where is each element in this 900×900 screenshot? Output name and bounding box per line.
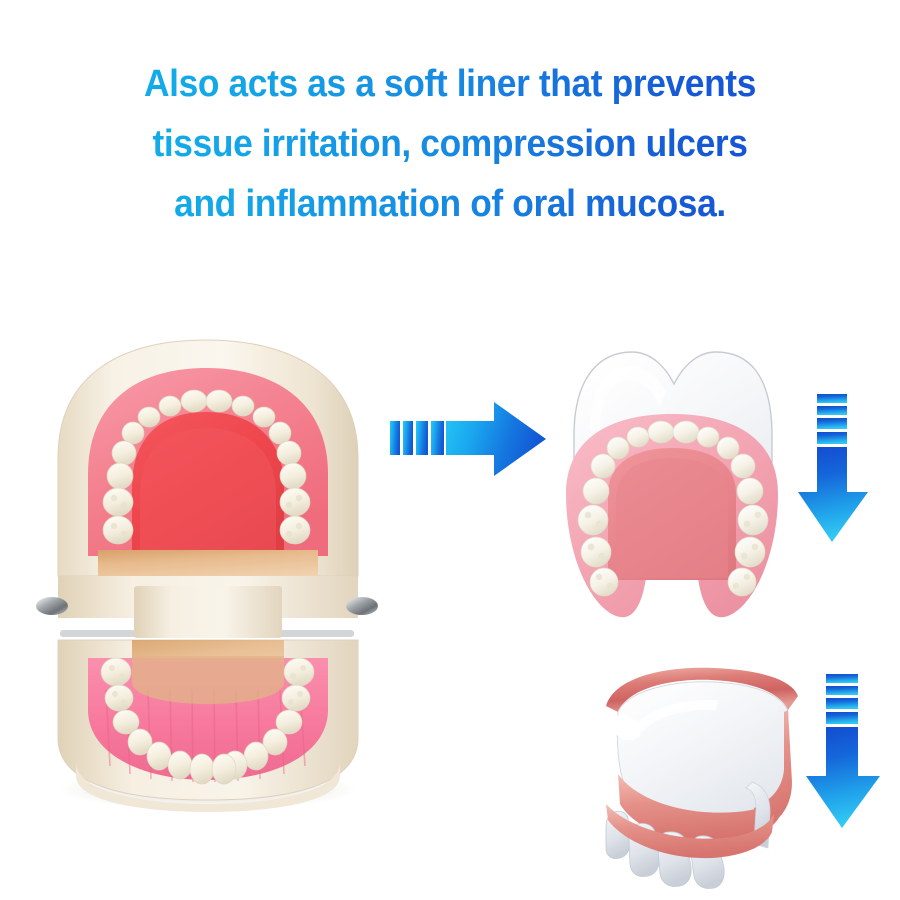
hinge-pin-right — [346, 597, 378, 615]
upper-jaw — [58, 340, 358, 618]
arrow-down-lower-segment-1 — [826, 674, 858, 683]
arrow-right-segment-2 — [403, 421, 413, 455]
headline-line-2: tissue irritation, compression ulcers — [32, 114, 869, 174]
arrow-down-lower — [806, 672, 884, 830]
mouth-floor — [132, 656, 284, 704]
arrow-down-upper-svg — [798, 392, 872, 544]
infographic-canvas: Also acts as a soft liner that prevents … — [0, 0, 900, 900]
palate-highlight — [140, 428, 276, 550]
cross-section-svg — [592, 662, 820, 894]
arrow-right-svg — [388, 398, 548, 480]
arrow-down-upper-segment-1 — [817, 394, 847, 403]
arrow-right-segment-1 — [390, 421, 400, 455]
arrow-right-head — [446, 402, 546, 476]
arrow-right — [388, 398, 548, 480]
arrow-down-upper-segment-2 — [817, 406, 847, 415]
headline-line-3: and inflammation of oral mucosa. — [32, 174, 869, 234]
arrow-down-lower-segment-3 — [826, 698, 858, 709]
arrow-down-lower-segment-4 — [826, 712, 858, 724]
arrow-right-segment-4 — [431, 421, 444, 455]
upper-arch-with-tray — [556, 344, 806, 644]
arrow-down-upper-head — [798, 447, 868, 542]
arrow-down-upper-segment-4 — [817, 432, 847, 444]
hinge-pin-left — [36, 597, 68, 615]
dental-jaw-model — [36, 338, 376, 808]
arrow-right-segment-3 — [416, 421, 428, 455]
upper-arch-svg — [556, 344, 806, 644]
arrow-down-lower-head — [806, 727, 880, 828]
dental-jaw-model-svg — [36, 338, 376, 808]
arrow-down-lower-segment-2 — [826, 686, 858, 695]
tongue-block — [134, 586, 282, 638]
arrow-down-lower-svg — [806, 672, 884, 830]
arrow-down-upper — [798, 392, 872, 544]
headline-block: Also acts as a soft liner that prevents … — [0, 54, 900, 234]
arrow-down-upper-segment-3 — [817, 418, 847, 429]
lower-jaw — [58, 640, 358, 812]
palate-inner-shade — [616, 458, 728, 578]
headline-line-1: Also acts as a soft liner that prevents — [32, 54, 869, 114]
palate-cross-section — [592, 662, 820, 894]
